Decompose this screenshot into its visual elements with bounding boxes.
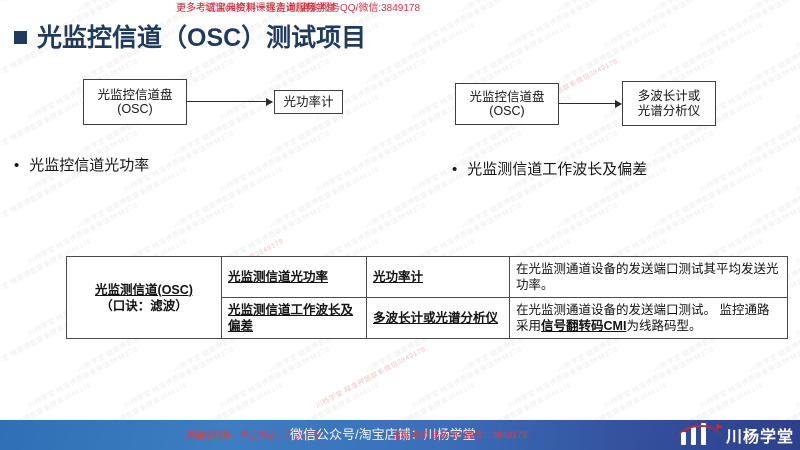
left-flow-source-box: 光监控信道盘 (OSC) (83, 79, 187, 125)
bullet-marker-left: • (14, 158, 19, 173)
watermark-text: 川杨学堂 精准押题联系微信3849178 (748, 164, 800, 231)
table-cell-item-1: 光监测信道光功率 (222, 257, 367, 298)
bullet-text-right: 光监测信道工作波长及偏差 (467, 158, 647, 179)
left-flow-target-box: 光功率计 (274, 90, 343, 114)
right-flow-source-box: 光监控信道盘 (OSC) (455, 83, 559, 125)
table-cell-description-2: 在光监测通道设备的发送端口测试。 监控通路采用信号翻转码CMI为线路码型。 (510, 298, 788, 339)
slide-canvas: 川杨学堂 精准押题联系微信3849178川杨学堂 精准押题联系微信3849178… (0, 0, 800, 450)
logo-swoosh-icon (674, 423, 721, 444)
right-flow-target-line1: 多波长计或 (638, 89, 701, 103)
table-row: 光监测信道(OSC) （口诀：滤波） 光监测信道光功率 光功率计 在光监测通道设… (67, 257, 788, 298)
top-promo-text-2: 培训os检测课程咨询服务 (205, 0, 316, 14)
bullet-text-left: 光监控信道光功率 (29, 154, 149, 175)
description-run-0: 在光监测通道设备的发送端口测试其平均发送光功率。 (516, 262, 779, 292)
description-run-1: 信号翻转码CMI (541, 319, 626, 333)
footer-red-text-right: 首席讲师 联系QQ/微信：3849178 (392, 428, 527, 441)
watermark-text: 川杨学堂 精准押题联系微信3849178 (794, 200, 800, 267)
right-flow-target-line2: 光谱分析仪 (638, 104, 701, 118)
watermark-text: 川杨学堂 精准押题联系微信3849178 (794, 272, 800, 339)
watermark-text: 川杨学堂 精准押题联系微信3849178 (26, 344, 139, 411)
left-flow-source-line2: (OSC) (117, 102, 152, 116)
table-cell-instrument-1: 光功率计 (367, 257, 510, 298)
watermark-text: 川杨学堂 精准押题联系微信3849178 (602, 344, 715, 411)
description-run-2: 为线路码型。 (626, 319, 701, 333)
left-flow-diagram: 光监控信道盘 (OSC) 光功率计 (0, 0, 420, 160)
watermark-text: 川杨学堂 精准押题联系微信3849178 (698, 344, 800, 411)
table-cell-description-1: 在光监测通道设备的发送端口测试其平均发送光功率。 (510, 257, 788, 298)
watermark-text: 川杨学堂 精准押题联系微信3849178 (314, 344, 427, 411)
watermark-text: 川杨学堂 精准押题联系微信3849178 (122, 344, 235, 411)
table-cell-instrument-2: 多波长计或光谱分析仪 (367, 298, 510, 339)
logo-bars-icon (677, 423, 721, 447)
right-flow-target-box: 多波长计或 光谱分析仪 (622, 81, 716, 126)
right-flow-source-line1: 光监控信道盘 (469, 90, 544, 104)
top-promo-strip: 更多考试宝典资料一逃走道川杨学堂 培训os检测课程咨询服务 咨询服务QQ/微信:… (0, 0, 800, 14)
table-row-header-cell: 光监测信道(OSC) （口诀：滤波） (67, 257, 222, 339)
left-flow-arrow-icon (187, 101, 272, 102)
footer-bar: 牌面授精华、央企内训、百金奖学 微信公众号/淘宝店铺：川杨学堂 首席讲师 联系Q… (0, 420, 800, 450)
watermark-text: 川杨学堂 精准押题联系微信3849178 (172, 164, 285, 231)
right-flow-source-line2: (OSC) (489, 104, 524, 118)
left-flow-source-line1: 光监控信道盘 (97, 88, 172, 102)
osc-test-table: 光监测信道(OSC) （口诀：滤波） 光监测信道光功率 光功率计 在光监测通道设… (66, 256, 788, 339)
table-row-header-line2: （口诀：滤波） (100, 299, 188, 313)
top-promo-text-3: 咨询服务QQ/微信:3849178 (300, 0, 420, 14)
watermark-text: 川杨学堂 精准押题联系微信3849178 (410, 344, 523, 411)
left-flow-target-label: 光功率计 (283, 95, 333, 109)
table-cell-item-2: 光监测信道工作波长及偏差 (222, 298, 367, 339)
watermark-text: 川杨学堂 精准押题联系微信3849178 (652, 164, 765, 231)
bullet-marker-right: • (452, 162, 457, 177)
right-flow-diagram: 光监控信道盘 (OSC) 多波长计或 光谱分析仪 (420, 0, 800, 160)
brand-logo: 川杨学堂 (677, 420, 794, 450)
bullet-line-right: • 光监测信道工作波长及偏差 (452, 158, 647, 179)
watermark-text: 川杨学堂 精准押题联系微信3849178 (218, 344, 331, 411)
right-flow-arrow-icon (559, 103, 621, 104)
bullet-line-left: • 光监控信道光功率 (14, 154, 149, 175)
table-row-header-line1: 光监测信道(OSC) (95, 283, 193, 297)
logo-text: 川杨学堂 (726, 423, 794, 447)
watermark-text: 川杨学堂 精准押题联系微信3849178 (794, 344, 800, 411)
watermark-text: 川杨学堂 精准押题联系微信3849178 (506, 344, 619, 411)
watermark-text: 川杨学堂 精准押题联系微信3849178 (268, 164, 381, 231)
